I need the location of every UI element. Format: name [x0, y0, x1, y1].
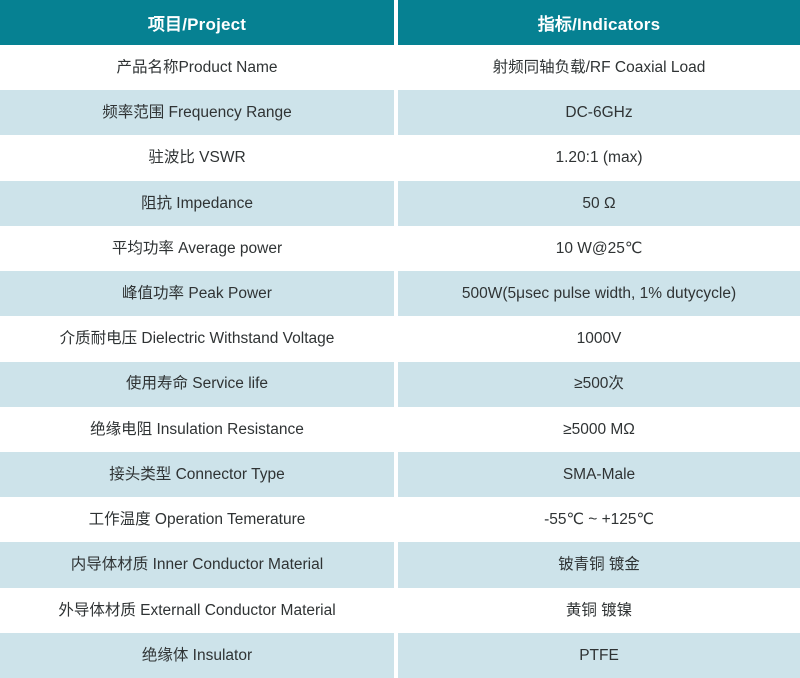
- cell-indicator: 1000V: [398, 316, 800, 361]
- cell-indicator: 铍青铜 镀金: [398, 542, 800, 587]
- table-row: 介质耐电压 Dielectric Withstand Voltage1000V: [0, 316, 800, 361]
- table-row: 外导体材质 Externall Conductor Material黄铜 镀镍: [0, 588, 800, 633]
- cell-project: 使用寿命 Service life: [0, 362, 394, 407]
- cell-indicator: SMA-Male: [398, 452, 800, 497]
- table-row: 峰值功率 Peak Power500W(5μsec pulse width, 1…: [0, 271, 800, 316]
- cell-project: 平均功率 Average power: [0, 226, 394, 271]
- specification-table: 项目/Project 指标/Indicators 产品名称Product Nam…: [0, 0, 800, 678]
- cell-indicator: 500W(5μsec pulse width, 1% dutycycle): [398, 271, 800, 316]
- cell-indicator: 射频同轴负载/RF Coaxial Load: [398, 45, 800, 90]
- table-row: 接头类型 Connector TypeSMA-Male: [0, 452, 800, 497]
- cell-project: 驻波比 VSWR: [0, 135, 394, 180]
- cell-indicator: ≥5000 MΩ: [398, 407, 800, 452]
- cell-indicator: DC-6GHz: [398, 90, 800, 135]
- table-row: 使用寿命 Service life≥500次: [0, 362, 800, 407]
- table-row: 平均功率 Average power10 W@25℃: [0, 226, 800, 271]
- table-header-row: 项目/Project 指标/Indicators: [0, 0, 800, 45]
- cell-project: 内导体材质 Inner Conductor Material: [0, 542, 394, 587]
- cell-indicator: ≥500次: [398, 362, 800, 407]
- cell-indicator: -55℃ ~ +125℃: [398, 497, 800, 542]
- cell-project: 阻抗 Impedance: [0, 181, 394, 226]
- cell-indicator: 黄铜 镀镍: [398, 588, 800, 633]
- cell-indicator: 10 W@25℃: [398, 226, 800, 271]
- table-row: 绝缘电阻 Insulation Resistance≥5000 MΩ: [0, 407, 800, 452]
- cell-indicator: 1.20:1 (max): [398, 135, 800, 180]
- table-row: 频率范围 Frequency RangeDC-6GHz: [0, 90, 800, 135]
- column-header-indicators: 指标/Indicators: [398, 0, 800, 45]
- cell-project: 峰值功率 Peak Power: [0, 271, 394, 316]
- cell-indicator: 50 Ω: [398, 181, 800, 226]
- table-row: 工作温度 Operation Temerature-55℃ ~ +125℃: [0, 497, 800, 542]
- table-row: 内导体材质 Inner Conductor Material铍青铜 镀金: [0, 542, 800, 587]
- cell-project: 绝缘体 Insulator: [0, 633, 394, 678]
- cell-project: 产品名称Product Name: [0, 45, 394, 90]
- cell-project: 外导体材质 Externall Conductor Material: [0, 588, 394, 633]
- table-body: 产品名称Product Name射频同轴负载/RF Coaxial Load频率…: [0, 45, 800, 678]
- table-row: 阻抗 Impedance50 Ω: [0, 181, 800, 226]
- cell-project: 接头类型 Connector Type: [0, 452, 394, 497]
- table-row: 产品名称Product Name射频同轴负载/RF Coaxial Load: [0, 45, 800, 90]
- cell-project: 介质耐电压 Dielectric Withstand Voltage: [0, 316, 394, 361]
- column-header-project: 项目/Project: [0, 0, 394, 45]
- table-row: 绝缘体 InsulatorPTFE: [0, 633, 800, 678]
- cell-indicator: PTFE: [398, 633, 800, 678]
- cell-project: 绝缘电阻 Insulation Resistance: [0, 407, 394, 452]
- table-row: 驻波比 VSWR1.20:1 (max): [0, 135, 800, 180]
- cell-project: 频率范围 Frequency Range: [0, 90, 394, 135]
- cell-project: 工作温度 Operation Temerature: [0, 497, 394, 542]
